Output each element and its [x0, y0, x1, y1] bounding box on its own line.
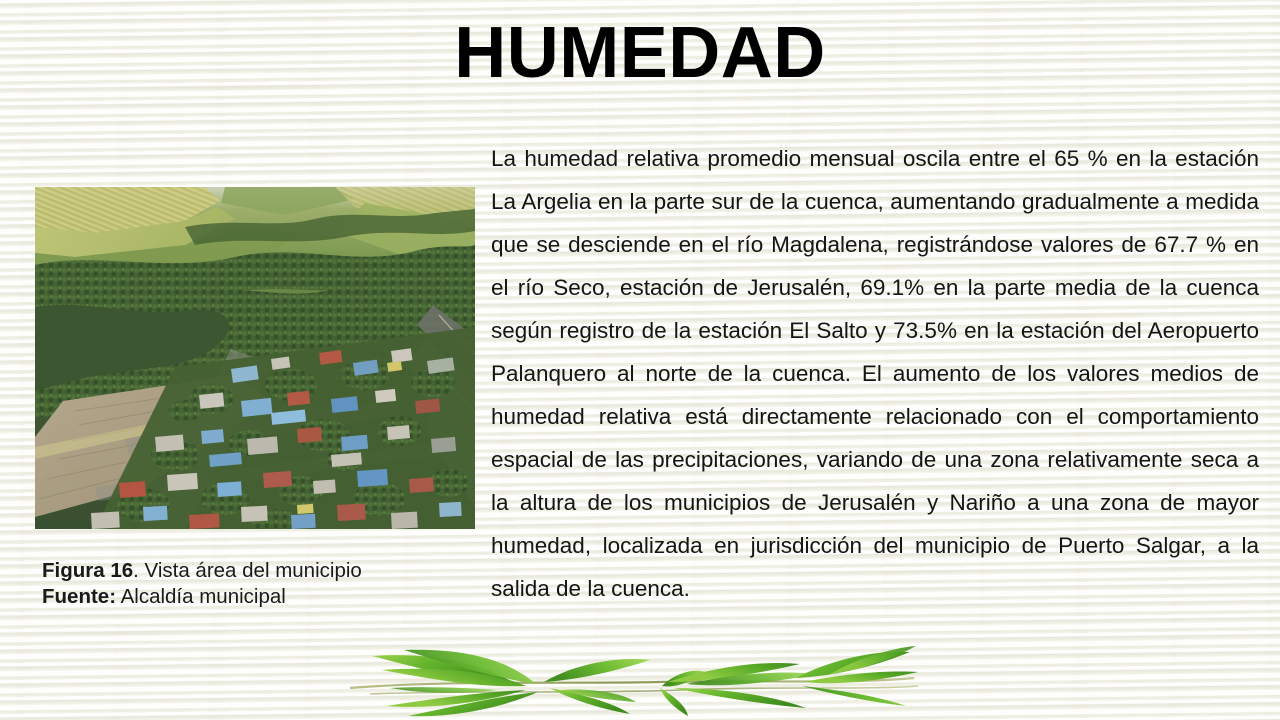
page-title: HUMEDAD — [0, 16, 1280, 92]
figure-caption-label: Figura 16 — [42, 559, 133, 582]
figure-caption-line: Figura 16. Vista área del municipio — [42, 558, 462, 584]
aerial-photo-image — [35, 187, 475, 529]
figure-caption-text: . Vista área del municipio — [133, 559, 362, 582]
figure-image-container — [35, 187, 475, 529]
figure-caption: Figura 16. Vista área del municipio Fuen… — [42, 558, 462, 610]
slide-canvas: HUMEDAD — [0, 0, 1280, 720]
figure-source-label: Fuente: — [42, 585, 116, 608]
leaf-branch-decoration-icon — [330, 644, 920, 720]
figure-source-line: Fuente: Alcaldía municipal — [42, 584, 462, 610]
body-paragraph: La humedad relativa promedio mensual osc… — [491, 137, 1259, 610]
figure-source-text: Alcaldía municipal — [116, 585, 286, 608]
